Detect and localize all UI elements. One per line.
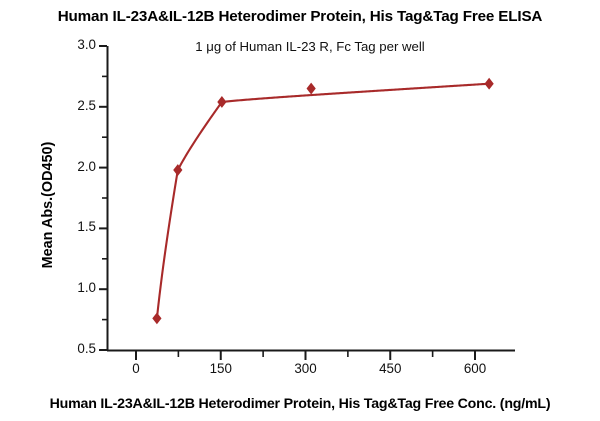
x-tick-label: 600 bbox=[445, 361, 505, 376]
x-tick-label: 300 bbox=[276, 361, 336, 376]
plot-area bbox=[0, 0, 600, 421]
x-tick-label: 150 bbox=[191, 361, 251, 376]
y-tick-label: 1.0 bbox=[56, 280, 96, 295]
x-tick-label: 0 bbox=[106, 361, 166, 376]
data-point bbox=[307, 83, 315, 93]
y-axis-ticks bbox=[99, 46, 107, 350]
y-tick-label: 2.5 bbox=[56, 98, 96, 113]
y-tick-label: 1.5 bbox=[56, 219, 96, 234]
x-tick-label: 450 bbox=[360, 361, 420, 376]
elisa-binding-chart: Human IL-23A&IL-12B Heterodimer Protein,… bbox=[0, 0, 600, 421]
data-point-markers bbox=[153, 79, 493, 324]
data-point bbox=[485, 79, 493, 89]
y-tick-label: 2.0 bbox=[56, 159, 96, 174]
y-tick-label: 3.0 bbox=[56, 37, 96, 52]
y-tick-label: 0.5 bbox=[56, 341, 96, 356]
fit-curve bbox=[157, 84, 489, 319]
data-point bbox=[153, 313, 161, 323]
x-axis-ticks bbox=[136, 351, 475, 360]
